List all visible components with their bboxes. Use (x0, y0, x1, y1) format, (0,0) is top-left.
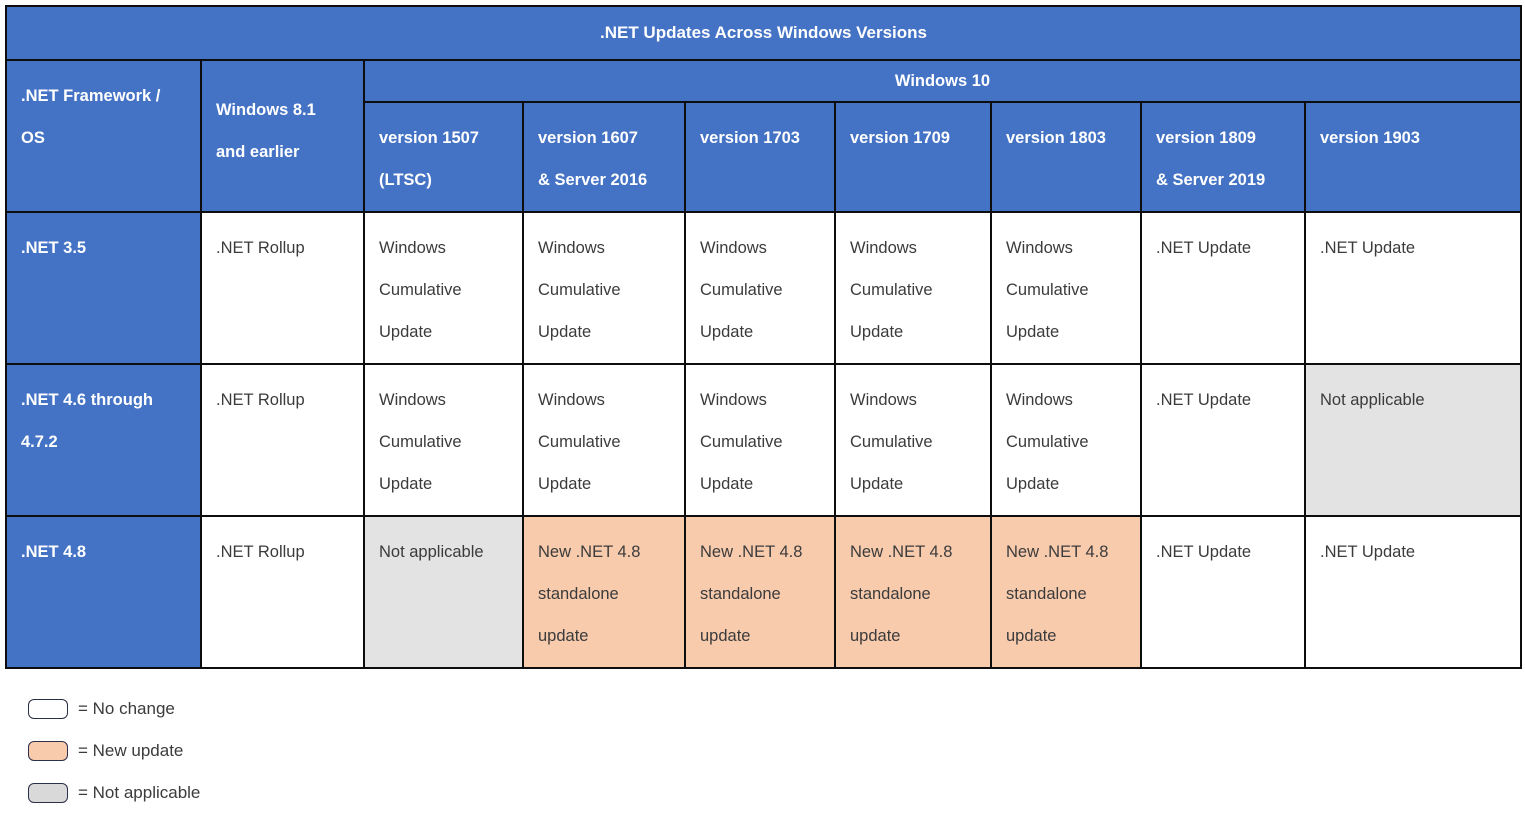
cell-line: Windows (538, 227, 672, 269)
swatch-new-update-icon (28, 741, 68, 761)
table-cell: WindowsCumulativeUpdate (991, 364, 1141, 516)
cell-line: Windows (1006, 227, 1128, 269)
version-1703-line1: version 1703 (700, 117, 822, 159)
table-title-row: .NET Updates Across Windows Versions (6, 6, 1521, 60)
version-header-1607: version 1607 & Server 2016 (523, 102, 685, 212)
table-cell: WindowsCumulativeUpdate (523, 212, 685, 364)
cell-line: Cumulative (850, 269, 978, 311)
table-cell: New .NET 4.8standaloneupdate (523, 516, 685, 668)
windows-10-group-header: Windows 10 (364, 60, 1521, 102)
table-cell: WindowsCumulativeUpdate (685, 364, 835, 516)
table-row: .NET 4.6 through 4.7.2 .NET RollupWindow… (6, 364, 1521, 516)
table-cell: WindowsCumulativeUpdate (991, 212, 1141, 364)
cell-line: Cumulative (700, 421, 822, 463)
row-label-cell: .NET 3.5 (6, 212, 201, 364)
legend-item-new-update: = New update (28, 730, 528, 772)
cell-line: .NET Update (1156, 379, 1292, 421)
cell-line: Windows (700, 227, 822, 269)
cell-line: Windows (538, 379, 672, 421)
cell-line: .NET Update (1156, 227, 1292, 269)
cell-line: .NET Rollup (216, 379, 351, 421)
cell-line: standalone (1006, 573, 1128, 615)
cell-line: Update (379, 311, 510, 353)
version-1607-line2: & Server 2016 (538, 159, 672, 201)
cell-line: Update (538, 463, 672, 505)
cell-line: Update (538, 311, 672, 353)
cell-line: Not applicable (1320, 379, 1508, 421)
cell-line: Windows (850, 227, 978, 269)
table-cell: WindowsCumulativeUpdate (523, 364, 685, 516)
row-label-cell: .NET 4.6 through 4.7.2 (6, 364, 201, 516)
cell-line: Windows (700, 379, 822, 421)
cell-line: New .NET 4.8 (850, 531, 978, 573)
cell-line: Update (700, 463, 822, 505)
version-header-1709: version 1709 (835, 102, 991, 212)
version-1809-line1: version 1809 (1156, 117, 1292, 159)
cell-line: .NET Update (1320, 531, 1508, 573)
cell-line: update (850, 615, 978, 657)
corner-header-line2: OS (21, 117, 188, 159)
cell-line: Cumulative (379, 269, 510, 311)
row-label-line2: 4.7.2 (21, 421, 188, 463)
table-cell: .NET Update (1305, 212, 1521, 364)
legend: = No change = New update = Not applicabl… (28, 688, 528, 814)
row-label-line1: .NET 4.6 through (21, 379, 188, 421)
cell-line: .NET Rollup (216, 227, 351, 269)
version-1803-line1: version 1803 (1006, 117, 1128, 159)
table-title: .NET Updates Across Windows Versions (6, 6, 1521, 60)
cell-line: .NET Rollup (216, 531, 351, 573)
table-cell: Not applicable (1305, 364, 1521, 516)
cell-line: Cumulative (538, 421, 672, 463)
cell-line: Update (850, 463, 978, 505)
corner-header-line1: .NET Framework / (21, 75, 188, 117)
table-cell: .NET Rollup (201, 364, 364, 516)
cell-line: Cumulative (379, 421, 510, 463)
version-1903-line1: version 1903 (1320, 117, 1508, 159)
legacy-os-header-cell: Windows 8.1 and earlier (201, 60, 364, 212)
version-1507-line1: version 1507 (379, 117, 510, 159)
table-cell: WindowsCumulativeUpdate (364, 364, 523, 516)
swatch-no-change-icon (28, 699, 68, 719)
table-cell: .NET Update (1141, 364, 1305, 516)
swatch-not-applicable-icon (28, 783, 68, 803)
row-label-line1: .NET 4.8 (21, 531, 188, 573)
cell-line: Update (1006, 463, 1128, 505)
legacy-os-line1: Windows 8.1 (216, 89, 351, 131)
version-1507-line2: (LTSC) (379, 159, 510, 201)
cell-line: Windows (1006, 379, 1128, 421)
cell-line: Cumulative (538, 269, 672, 311)
cell-line: standalone (850, 573, 978, 615)
cell-line: Update (379, 463, 510, 505)
version-header-1507: version 1507 (LTSC) (364, 102, 523, 212)
cell-line: Cumulative (850, 421, 978, 463)
table-cell: WindowsCumulativeUpdate (364, 212, 523, 364)
cell-line: .NET Update (1156, 531, 1292, 573)
row-label-cell: .NET 4.8 (6, 516, 201, 668)
legend-item-not-applicable: = Not applicable (28, 772, 528, 814)
row-label-line1: .NET 3.5 (21, 227, 188, 269)
cell-line: standalone (700, 573, 822, 615)
table-row: .NET 3.5 .NET RollupWindowsCumulativeUpd… (6, 212, 1521, 364)
cell-line: New .NET 4.8 (538, 531, 672, 573)
table-cell: Not applicable (364, 516, 523, 668)
cell-line: Cumulative (1006, 421, 1128, 463)
cell-line: Windows (379, 227, 510, 269)
cell-line: .NET Update (1320, 227, 1508, 269)
legend-item-no-change: = No change (28, 688, 528, 730)
cell-line: update (1006, 615, 1128, 657)
cell-line: Not applicable (379, 531, 510, 573)
table-cell: .NET Rollup (201, 212, 364, 364)
legend-label-not-applicable: = Not applicable (78, 783, 200, 803)
legend-label-no-change: = No change (78, 699, 175, 719)
cell-line: Cumulative (1006, 269, 1128, 311)
cell-line: standalone (538, 573, 672, 615)
cell-line: Update (850, 311, 978, 353)
spreadsheet-canvas: .NET Updates Across Windows Versions .NE… (0, 0, 1525, 807)
table-cell: .NET Update (1141, 212, 1305, 364)
version-1709-line1: version 1709 (850, 117, 978, 159)
table-cell: .NET Update (1141, 516, 1305, 668)
cell-line: Windows (379, 379, 510, 421)
legend-label-new-update: = New update (78, 741, 183, 761)
version-header-1803: version 1803 (991, 102, 1141, 212)
cell-line: update (538, 615, 672, 657)
cell-line: Cumulative (700, 269, 822, 311)
version-header-1903: version 1903 (1305, 102, 1521, 212)
legacy-os-line2: and earlier (216, 131, 351, 173)
table-cell: New .NET 4.8standaloneupdate (991, 516, 1141, 668)
cell-line: update (700, 615, 822, 657)
table-cell: WindowsCumulativeUpdate (835, 364, 991, 516)
table-cell: WindowsCumulativeUpdate (835, 212, 991, 364)
version-header-1809: version 1809 & Server 2019 (1141, 102, 1305, 212)
cell-line: New .NET 4.8 (700, 531, 822, 573)
table-header-row-top: .NET Framework / OS Windows 8.1 and earl… (6, 60, 1521, 102)
corner-header-cell: .NET Framework / OS (6, 60, 201, 212)
cell-line: Windows (850, 379, 978, 421)
version-1607-line1: version 1607 (538, 117, 672, 159)
table-cell: New .NET 4.8standaloneupdate (835, 516, 991, 668)
dotnet-updates-table: .NET Updates Across Windows Versions .NE… (5, 5, 1522, 669)
table-cell: New .NET 4.8standaloneupdate (685, 516, 835, 668)
table-cell: .NET Rollup (201, 516, 364, 668)
cell-line: Update (700, 311, 822, 353)
table-cell: .NET Update (1305, 516, 1521, 668)
cell-line: Update (1006, 311, 1128, 353)
cell-line: New .NET 4.8 (1006, 531, 1128, 573)
table-row: .NET 4.8 .NET RollupNot applicableNew .N… (6, 516, 1521, 668)
table-cell: WindowsCumulativeUpdate (685, 212, 835, 364)
version-1809-line2: & Server 2019 (1156, 159, 1292, 201)
version-header-1703: version 1703 (685, 102, 835, 212)
